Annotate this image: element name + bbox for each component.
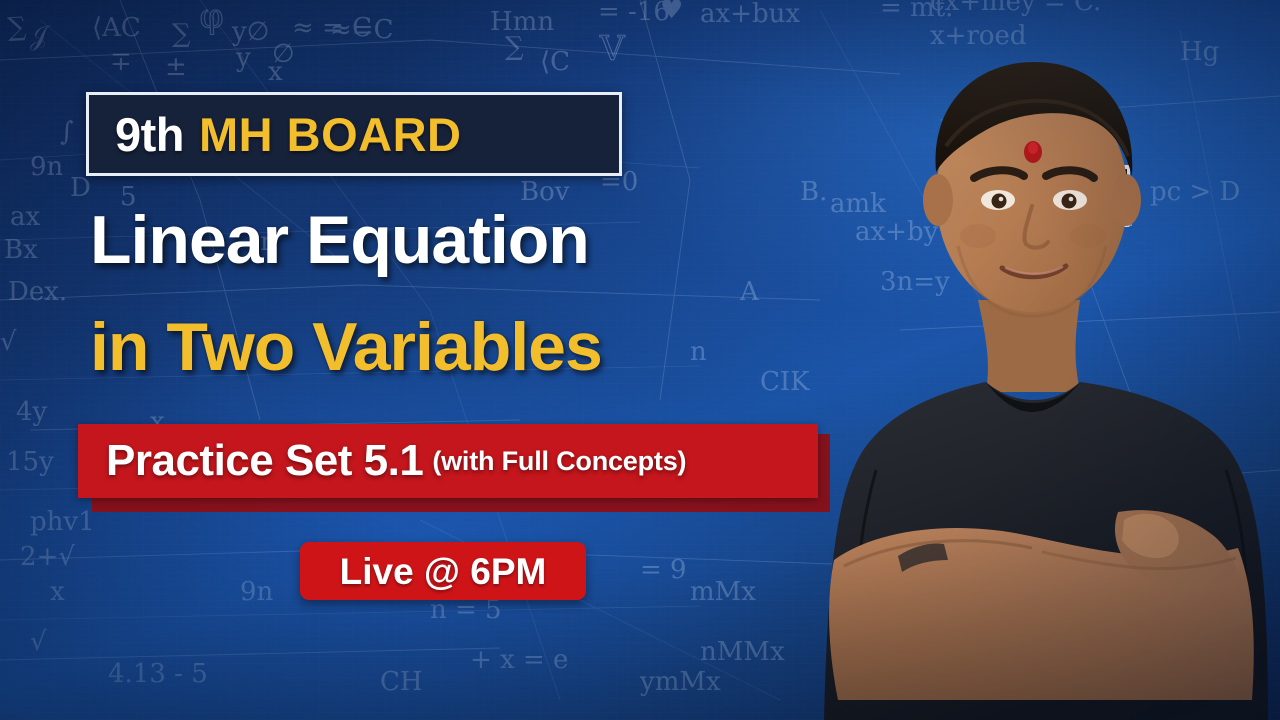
practice-set-banner: Practice Set 5.1 (with Full Concepts) — [78, 424, 838, 516]
practice-set-label: Practice Set 5.1 — [106, 439, 423, 483]
thumbnail-text-content: 9th MH BOARD Linear Equation in Two Vari… — [0, 0, 860, 720]
presenter-photo — [818, 0, 1280, 720]
board-badge: 9th MH BOARD — [86, 92, 622, 176]
live-time-badge: Live @ 6PM — [300, 542, 586, 600]
youtube-thumbnail: ∑ 𝒥 ⟨AC ∑ y∅ ≈ = C ∓ ± y ∅ x ≈=C Hmn ∑ ⟨… — [0, 0, 1280, 720]
practice-set-subtitle: (with Full Concepts) — [432, 448, 686, 475]
practice-banner-text: Practice Set 5.1 (with Full Concepts) — [106, 424, 686, 498]
grade-label: 9th — [115, 111, 184, 158]
board-label: MH BOARD — [199, 111, 461, 158]
title-line-1: Linear Equation — [90, 206, 589, 274]
title-line-2: in Two Variables — [90, 313, 602, 381]
live-time-label: Live @ 6PM — [340, 553, 547, 590]
